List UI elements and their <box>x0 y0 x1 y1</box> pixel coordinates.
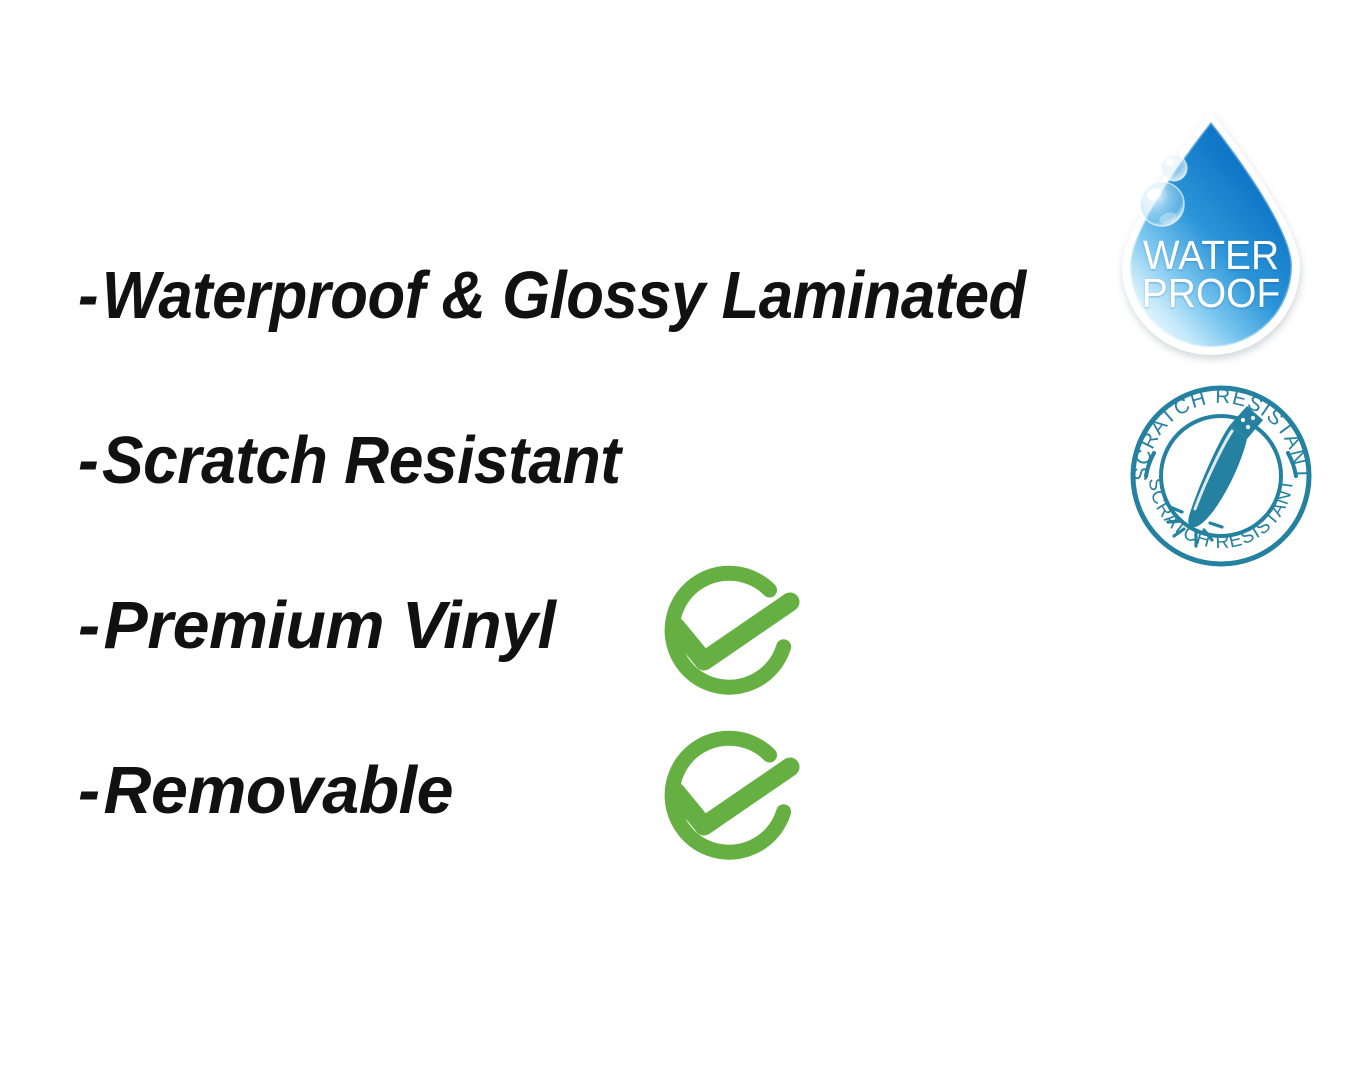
feature-bullet: - <box>78 592 100 659</box>
feature-list-graphic: -Waterproof & Glossy Laminated -Scratch … <box>0 0 1359 1080</box>
feature-label: Premium Vinyl <box>104 592 556 659</box>
feature-label: Waterproof & Glossy Laminated <box>102 262 1026 329</box>
feature-bullet: - <box>78 262 98 329</box>
scratch-resistant-badge: SCRATCH RESISTANT SCRATCH RESISTANT <box>1126 381 1316 571</box>
check-circle-icon <box>632 555 832 715</box>
feature-label: Scratch Resistant <box>102 427 620 494</box>
feature-bullet: - <box>78 427 98 494</box>
feature-item-premium-vinyl: -Premium Vinyl <box>78 592 555 659</box>
feature-item-removable: -Removable <box>78 757 453 824</box>
check-circle-icon <box>632 720 832 880</box>
feature-label: Removable <box>104 757 453 824</box>
feature-item-waterproof-glossy-laminated: -Waterproof & Glossy Laminated <box>78 262 1026 329</box>
feature-item-scratch-resistant: -Scratch Resistant <box>78 427 620 494</box>
waterproof-badge: WATER PROOF <box>1104 108 1318 364</box>
feature-bullet: - <box>78 757 100 824</box>
